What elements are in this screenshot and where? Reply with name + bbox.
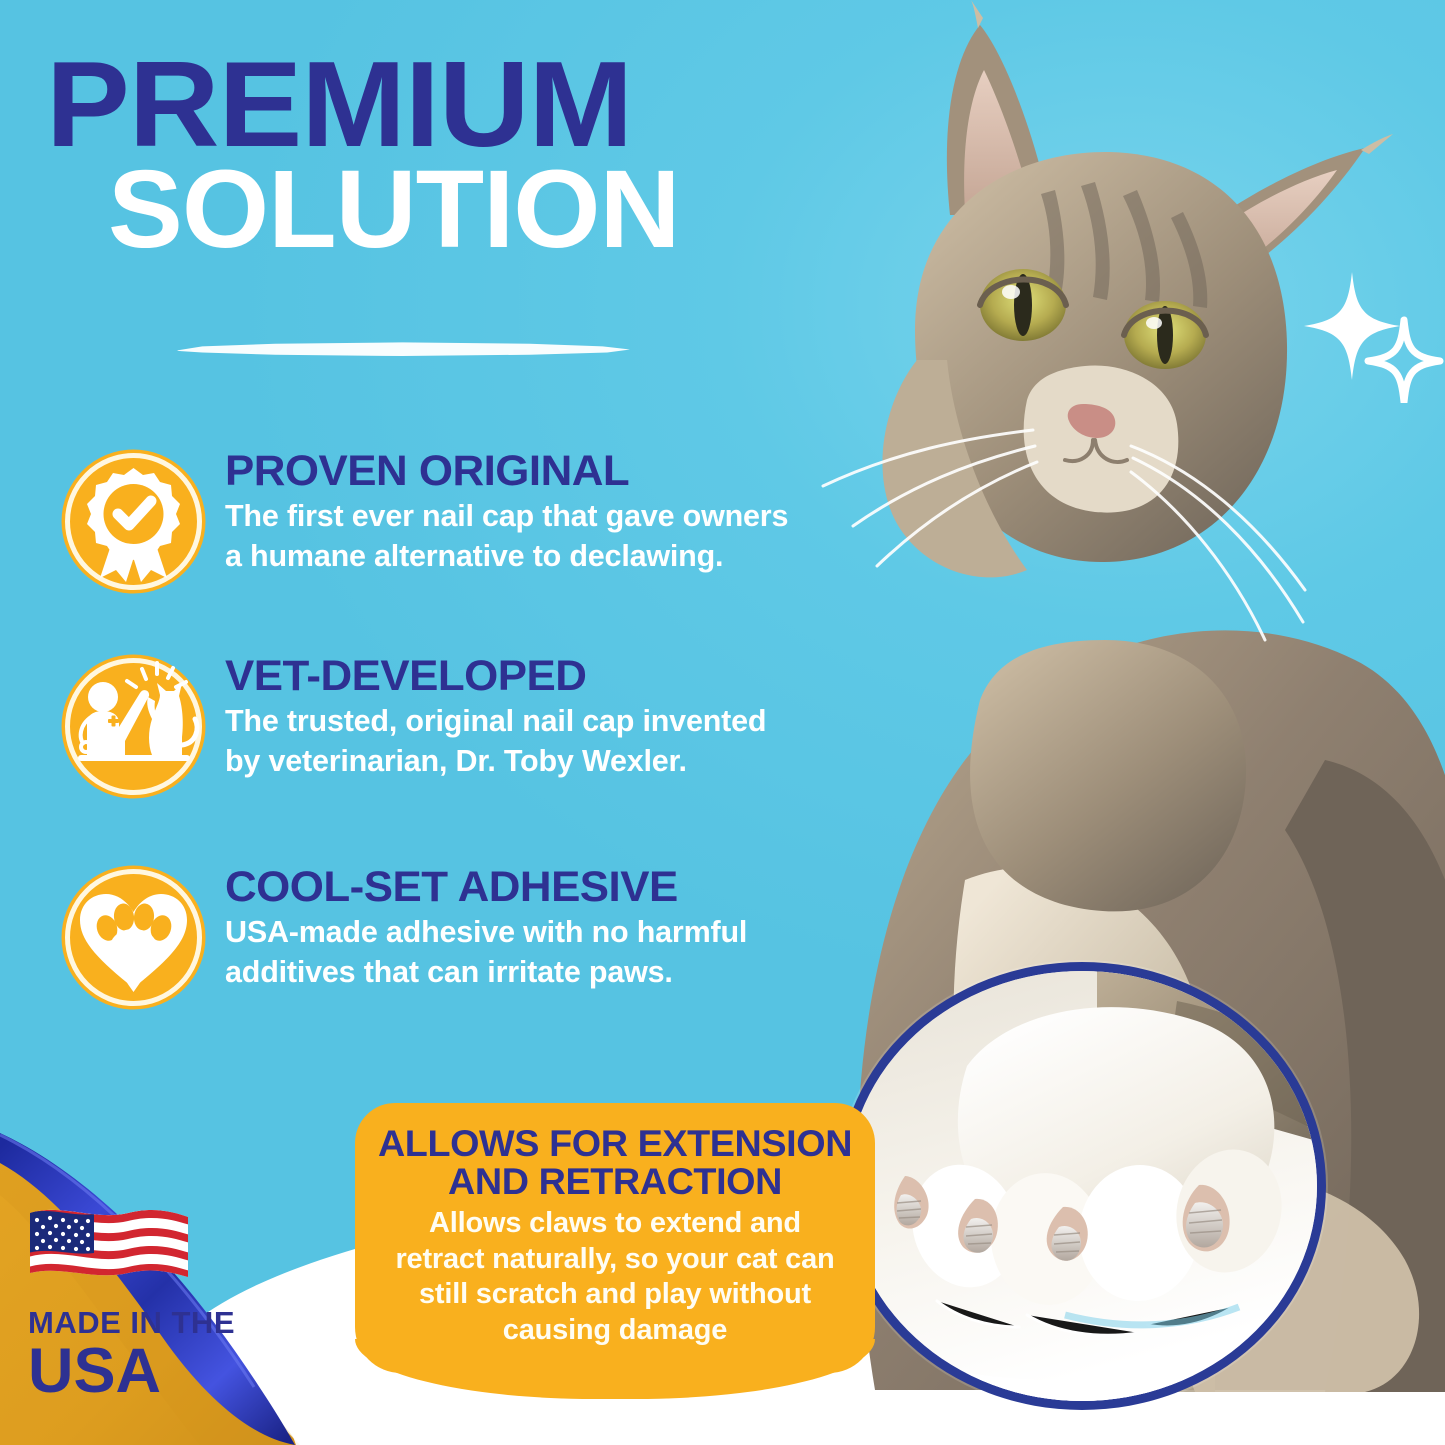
- feature-body: USA-made adhesive with no harmful additi…: [225, 913, 805, 992]
- heart-paw-print-icon: [56, 860, 211, 1015]
- feature-item-vet-developed: VET-DEVELOPED The trusted, original nail…: [56, 645, 856, 804]
- award-ribbon-check-icon: [56, 444, 211, 599]
- feature-title: VET-DEVELOPED: [225, 655, 869, 698]
- feature-body: The first ever nail cap that gave owners…: [225, 497, 805, 576]
- headline-line-1: PREMIUM: [46, 52, 860, 157]
- feature-list: PROVEN ORIGINAL The first ever nail cap …: [56, 440, 856, 1059]
- sparkle-star-outline: [1368, 320, 1440, 402]
- feature-title: PROVEN ORIGINAL: [225, 450, 869, 493]
- made-in-usa-badge: MADE IN THE USA: [28, 1203, 278, 1403]
- paw-detail-circle: [838, 962, 1326, 1410]
- made-in-usa-line-2: USA: [28, 1340, 278, 1403]
- feature-body: The trusted, original nail cap invented …: [225, 702, 805, 781]
- sparkle-decoration: [1300, 268, 1445, 403]
- veterinarian-high-five-cat-icon: [56, 649, 211, 804]
- usa-flag-icon: [28, 1203, 190, 1295]
- headline-line-2: SOLUTION: [108, 163, 851, 258]
- feature-title: COOL-SET ADHESIVE: [225, 866, 869, 909]
- page-title: PREMIUM SOLUTION: [46, 52, 836, 258]
- made-in-usa-line-1: MADE IN THE: [28, 1307, 278, 1338]
- feature-item-proven-original: PROVEN ORIGINAL The first ever nail cap …: [56, 440, 856, 599]
- product-infographic: PREMIUM SOLUTION PROVEN OR: [0, 0, 1445, 1445]
- feature-item-cool-set-adhesive: COOL-SET ADHESIVE USA-made adhesive with…: [56, 856, 856, 1015]
